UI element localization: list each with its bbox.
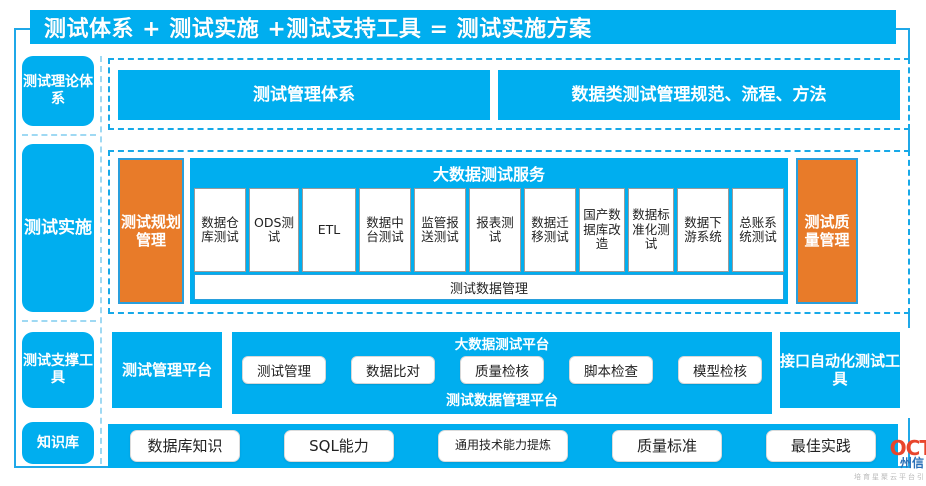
- service-cell[interactable]: 报表测试: [469, 188, 521, 272]
- platform-chip[interactable]: 质量检核: [460, 356, 544, 384]
- knowledge-chip[interactable]: 通用技术能力提炼: [438, 430, 568, 462]
- sidebar-item-theory[interactable]: 测试理论体系: [22, 56, 94, 130]
- diagram-canvas: 测试体系 + 测试实施 +测试支持工具 = 测试实施方案 测试理论体系 测试实施…: [0, 0, 926, 486]
- title-bar: 测试体系 + 测试实施 +测试支持工具 = 测试实施方案: [30, 10, 896, 44]
- platform-chip[interactable]: 数据比对: [351, 356, 435, 384]
- page-title: 测试体系 + 测试实施 +测试支持工具 = 测试实施方案: [30, 11, 592, 43]
- execution-box-test-planning[interactable]: 测试规划管理: [118, 158, 184, 304]
- platform-chip[interactable]: 模型检核: [678, 356, 762, 384]
- service-cell[interactable]: 数据仓库测试: [194, 188, 246, 272]
- platform-panel-header: 大数据测试平台: [232, 334, 772, 352]
- service-cell[interactable]: 数据迁移测试: [524, 188, 576, 272]
- sidebar-separator-2: [22, 320, 96, 322]
- sidebar-divider: [100, 56, 102, 464]
- service-cell[interactable]: 总账系统测试: [732, 188, 784, 272]
- service-cell[interactable]: ETL: [302, 188, 356, 272]
- support-box-test-management-platform[interactable]: 测试管理平台: [112, 332, 222, 408]
- execution-region: 测试规划管理 大数据测试服务 数据仓库测试 ODS测试 ETL 数据中台测试 监…: [108, 150, 910, 314]
- sidebar-item-execution-label: 测试实施: [22, 144, 94, 312]
- execution-box-quality-management[interactable]: 测试质量管理: [796, 158, 858, 304]
- sidebar-item-support[interactable]: 测试支撑工具: [22, 332, 94, 414]
- sidebar-item-execution[interactable]: 测试实施: [22, 144, 94, 316]
- sidebar-item-knowledge[interactable]: 知识库: [22, 422, 94, 466]
- watermark-tagline: 培育星聚云平台引: [854, 472, 926, 482]
- support-region: 测试管理平台 大数据测试平台 测试管理 数据比对 质量检核 脚本检查 模型检核 …: [108, 328, 910, 418]
- service-cell[interactable]: 数据标准化测试: [628, 188, 674, 272]
- service-panel: 大数据测试服务 数据仓库测试 ODS测试 ETL 数据中台测试 监管报送测试 报…: [190, 158, 788, 304]
- platform-chip[interactable]: 脚本检查: [569, 356, 653, 384]
- service-cell[interactable]: 数据中台测试: [359, 188, 411, 272]
- service-panel-header: 大数据测试服务: [190, 158, 788, 188]
- theory-box-data-spec[interactable]: 数据类测试管理规范、流程、方法: [498, 70, 900, 120]
- service-cell[interactable]: 国产数据库改造: [579, 188, 625, 272]
- knowledge-chip[interactable]: SQL能力: [284, 430, 394, 462]
- platform-chip[interactable]: 测试管理: [242, 356, 326, 384]
- execution-box-test-planning-label: 测试规划管理: [120, 213, 182, 249]
- sidebar-item-support-label: 测试支撑工具: [22, 332, 94, 408]
- sidebar-item-knowledge-label: 知识库: [22, 422, 94, 464]
- sidebar-separator-1: [22, 134, 96, 136]
- service-cell[interactable]: ODS测试: [249, 188, 299, 272]
- platform-chip-list: 测试管理 数据比对 质量检核 脚本检查 模型检核: [242, 354, 762, 386]
- support-box-api-automation-tool[interactable]: 接口自动化测试工具: [780, 332, 900, 408]
- knowledge-bar: 数据库知识 SQL能力 通用技术能力提炼 质量标准 最佳实践: [108, 424, 898, 468]
- service-cell[interactable]: 数据下游系统: [677, 188, 729, 272]
- platform-panel-footer: 测试数据管理平台: [232, 390, 772, 410]
- knowledge-chip[interactable]: 质量标准: [612, 430, 722, 462]
- theory-box-management-system[interactable]: 测试管理体系: [118, 70, 490, 120]
- service-cell[interactable]: 监管报送测试: [414, 188, 466, 272]
- knowledge-chip[interactable]: 最佳实践: [766, 430, 876, 462]
- platform-panel: 大数据测试平台 测试管理 数据比对 质量检核 脚本检查 模型检核 测试数据管理平…: [232, 332, 772, 414]
- execution-box-quality-management-label: 测试质量管理: [798, 213, 856, 249]
- sidebar-item-theory-label: 测试理论体系: [22, 56, 94, 126]
- knowledge-chip[interactable]: 数据库知识: [130, 430, 240, 462]
- service-cell-list: 数据仓库测试 ODS测试 ETL 数据中台测试 监管报送测试 报表测试 数据迁移…: [194, 188, 784, 272]
- theory-region: 测试管理体系 数据类测试管理规范、流程、方法: [108, 58, 910, 130]
- service-panel-footer[interactable]: 测试数据管理: [194, 274, 784, 300]
